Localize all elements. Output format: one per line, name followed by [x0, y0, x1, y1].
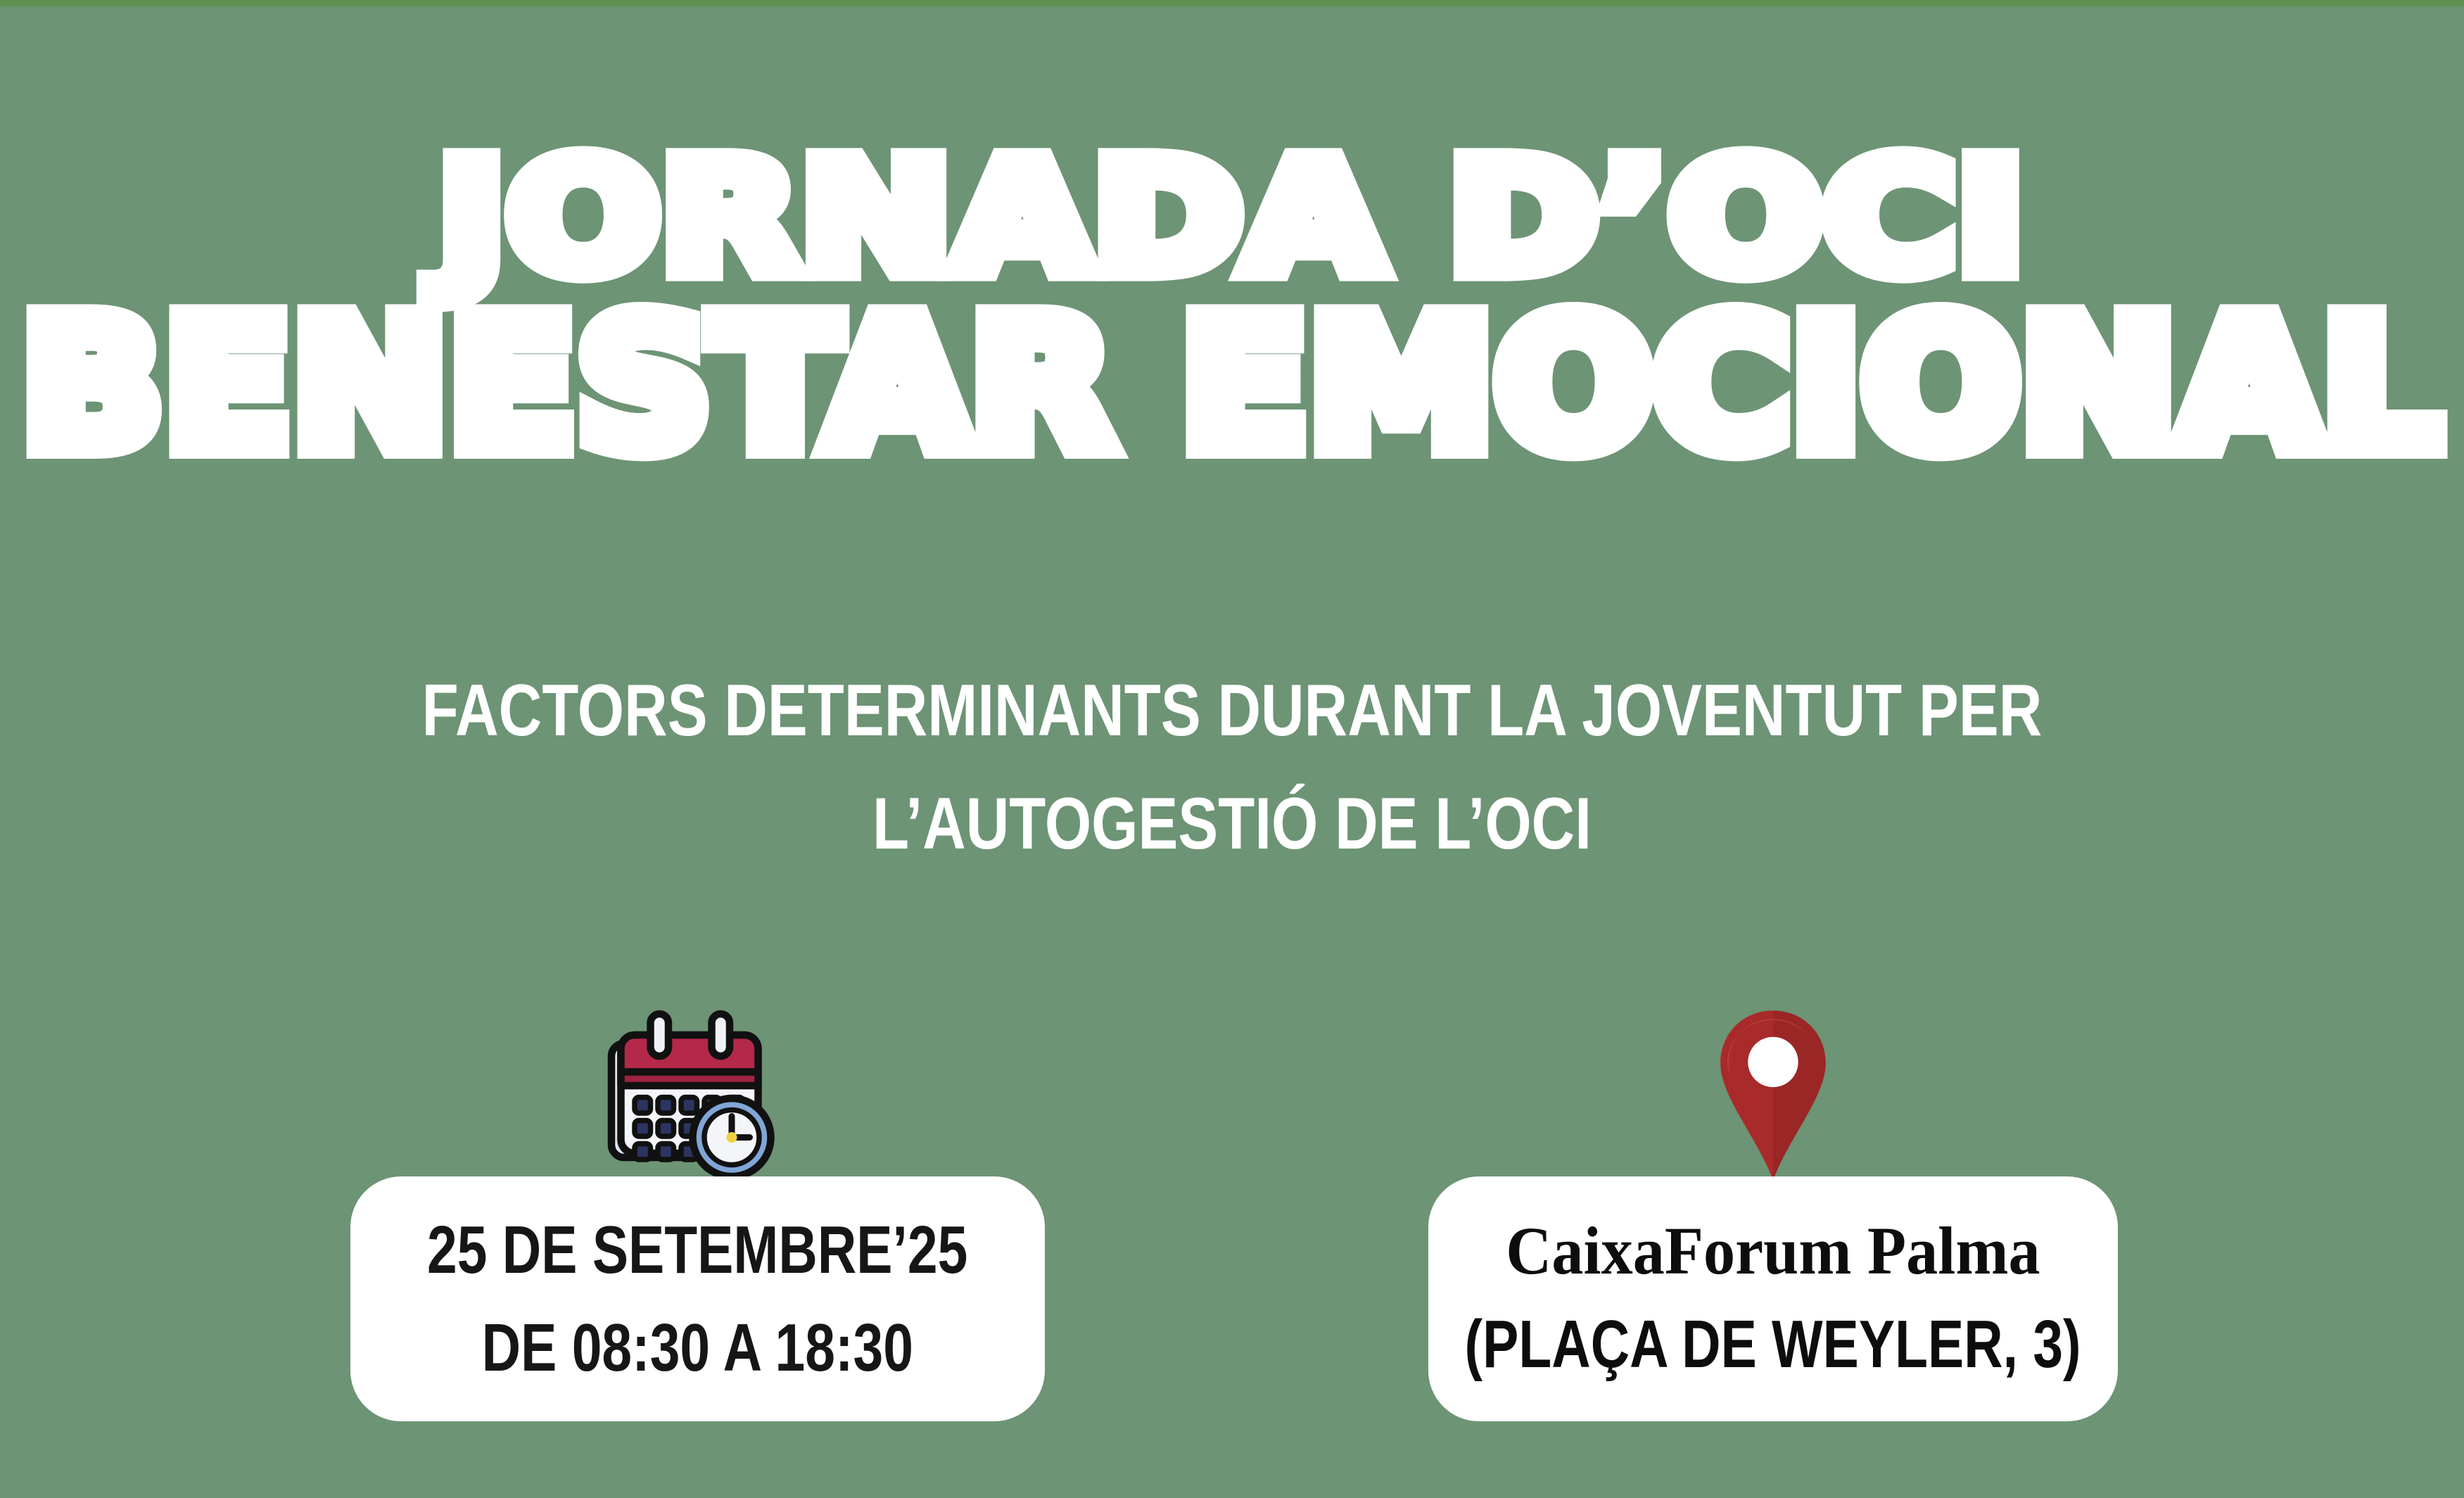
map-pin-shade: [1773, 1010, 1826, 1180]
calendar-body: [621, 1035, 758, 1153]
poster-title: JORNADA D’OCI BENESTAR EMOCIONAL: [0, 155, 2464, 450]
map-pin-highlight: [1727, 1019, 1810, 1077]
calendar-date-dots: [635, 1098, 744, 1160]
calendar-header: [621, 1035, 758, 1072]
map-pin-hole: [1748, 1037, 1798, 1087]
venue-name: CaixaForum Palma: [1506, 1214, 2040, 1288]
clock-icon: [692, 1098, 770, 1176]
calendar-header-band: [621, 1072, 758, 1086]
poster-canvas: JORNADA D’OCI BENESTAR EMOCIONAL FACTORS…: [0, 0, 2464, 1498]
title-line-1: JORNADA D’OCI: [0, 147, 2464, 289]
top-edge-strip: [0, 0, 2464, 6]
calendar-clock-icon: [603, 1008, 793, 1176]
info-cards-row: 25 DE SETEMBRE’25 DE 08:30 A 18:30 Caixa…: [0, 1008, 2464, 1430]
calendar-binders: [650, 1014, 730, 1056]
place-card[interactable]: CaixaForum Palma (PLAÇA DE WEYLER, 3): [1428, 1176, 2118, 1421]
time-text: DE 08:30 A 18:30: [482, 1308, 913, 1388]
calendar-clock-icon-wrap: [350, 1008, 1045, 1176]
calendar-back-page: [611, 1043, 742, 1157]
poster-subtitle: FACTORS DETERMINANTS DURANT LA JOVENTUT …: [0, 654, 2464, 881]
subtitle-line-1: FACTORS DETERMINANTS DURANT LA JOVENTUT …: [222, 654, 2242, 768]
map-pin-body: [1720, 1010, 1826, 1180]
date-card[interactable]: 25 DE SETEMBRE’25 DE 08:30 A 18:30: [350, 1176, 1045, 1421]
subtitle-line-2: L’AUTOGESTIÓ DE L’OCI: [222, 768, 2242, 881]
date-text: 25 DE SETEMBRE’25: [427, 1210, 967, 1290]
title-line-2: BENESTAR EMOCIONAL: [0, 303, 2464, 468]
venue-address: (PLAÇA DE WEYLER, 3): [1465, 1305, 2081, 1384]
map-pin-icon-wrap: [1428, 1008, 2118, 1183]
map-pin-icon: [1713, 1008, 1833, 1183]
